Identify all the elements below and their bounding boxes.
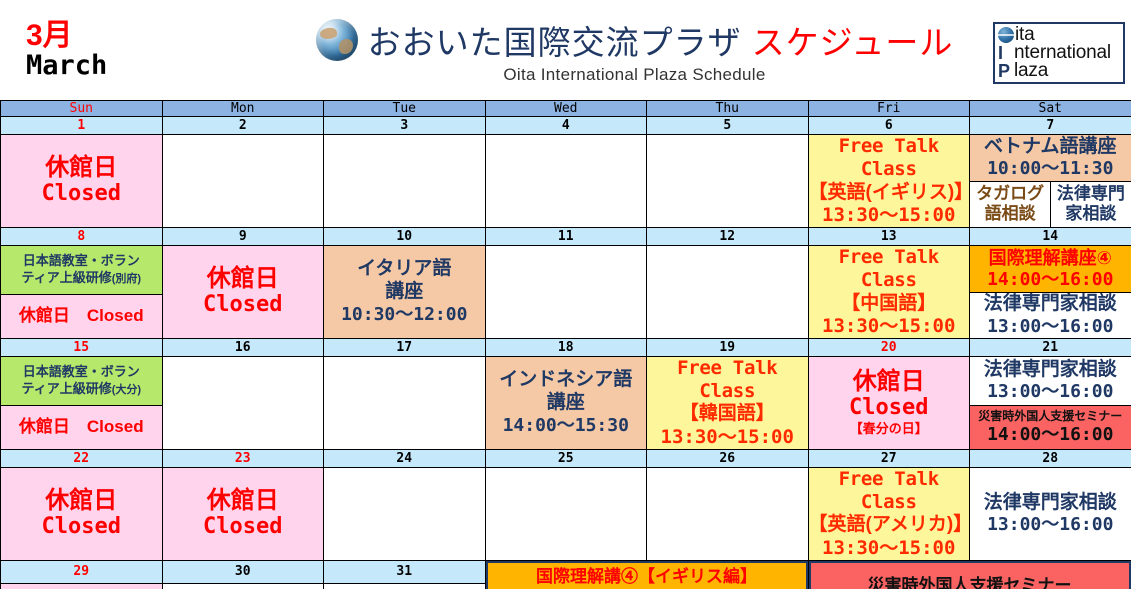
cell-day-22[interactable]: 休館日 Closed: [1, 467, 163, 560]
calendar-page: 3月 March おおいた国際交流プラザ スケジュール Oita Interna…: [0, 0, 1131, 589]
daynum-24: 24: [324, 449, 486, 467]
daynum-8: 8: [1, 227, 163, 245]
banner-cell-orange[interactable]: 国際理解講④【イギリス編】 令和8年3月14日（土） 14:00〜16:00 i…: [485, 560, 808, 589]
daynum-row-week1: 1 2 3 4 5 6 7: [1, 117, 1131, 135]
daynum-12: 12: [647, 227, 809, 245]
daynum-11: 11: [485, 227, 647, 245]
banner-red-title: 災害時外国人支援セミナー: [817, 575, 1123, 589]
weekday-thu: Thu: [647, 101, 809, 117]
kokusai-course-title: 国際理解講座④: [989, 248, 1112, 269]
daynum-28: 28: [970, 449, 1131, 467]
cell-day-23[interactable]: 休館日 Closed: [162, 467, 324, 560]
closed-en: Closed: [42, 182, 121, 207]
daynum-5: 5: [647, 117, 809, 135]
cell-day-17[interactable]: [324, 356, 486, 449]
holiday-label: 【春分の日】: [850, 421, 928, 437]
event-row-week2: 日本語教室・ボラン ティア上級研修(別府) 休館日 Closed 休館日: [1, 245, 1131, 338]
vietnamese-course-title: ベトナム語講座: [984, 136, 1116, 159]
daynum-15: 15: [1, 338, 163, 356]
cell-day-28[interactable]: 法律専門家相談 13:00〜16:00: [970, 467, 1131, 560]
event-row-week3: 日本語教室・ボラン ティア上級研修(大分) 休館日 Closed: [1, 356, 1131, 449]
daynum-row-week4: 22 23 24 25 26 27 28: [1, 449, 1131, 467]
weekday-fri: Fri: [808, 101, 970, 117]
daynum-7: 7: [970, 117, 1131, 135]
daynum-13: 13: [808, 227, 970, 245]
closed-ja: 休館日: [45, 488, 117, 515]
legal-consult[interactable]: 法律専門 家相談: [1050, 182, 1130, 227]
weekday-sun: Sun: [1, 101, 163, 117]
daynum-16: 16: [162, 338, 324, 356]
daynum-row-week2: 8 9 10 11 12 13 14: [1, 227, 1131, 245]
legal-consult-title: 法律専門家相談: [984, 359, 1117, 382]
daynum-17: 17: [324, 338, 486, 356]
volunteer-line1: 日本語教室・ボラン: [23, 364, 140, 380]
event-row-week1: 休館日 Closed Free Talk Class 【英語(イギリス)】 13…: [1, 135, 1131, 228]
kokusai-course-time: 14:00〜16:00: [987, 269, 1113, 291]
daynum-row-week3: 15 16 17 18 19 20 21: [1, 338, 1131, 356]
indonesian-course-line2: 講座: [547, 392, 585, 415]
daynum-14: 14: [970, 227, 1131, 245]
banner-cell-red[interactable]: 災害時外国人支援セミナー 令和8年3月21日(土) 14:00〜16:00 大分…: [808, 560, 1131, 589]
cell-day-26[interactable]: [647, 467, 809, 560]
oita-international-plaza-logo: ita I nternational P laza: [993, 22, 1125, 84]
closed-ja: 休館日: [45, 155, 117, 182]
tagalog-consult[interactable]: タガログ 語相談: [970, 182, 1050, 227]
logo-globe-icon: [998, 27, 1014, 43]
closed-ja: 休館日: [207, 488, 279, 515]
closed-ja: 休館日: [853, 369, 925, 396]
closed-inline: 休館日 Closed: [19, 306, 144, 326]
event-row-week4: 休館日 Closed 休館日 Closed Free Talk Class: [1, 467, 1131, 560]
cell-day-18[interactable]: インドネシア語 講座 14:00〜15:30: [485, 356, 647, 449]
daynum-22: 22: [1, 449, 163, 467]
italian-course-line2: 講座: [385, 281, 423, 304]
legal-line2: 家相談: [1065, 204, 1116, 224]
freetalk-time: 13:30〜15:00: [822, 315, 955, 338]
cell-day-2[interactable]: [162, 135, 324, 228]
logo-cap-i: I: [998, 45, 1014, 62]
daynum-27: 27: [808, 449, 970, 467]
daynum-25: 25: [485, 449, 647, 467]
freetalk-time: 13:30〜15:00: [822, 537, 955, 560]
cell-day-29[interactable]: 休館日 Closed: [1, 583, 163, 589]
cell-day-30[interactable]: [162, 583, 324, 589]
cell-day-21[interactable]: 法律専門家相談 13:00〜16:00 災害時外国人支援セミナー 14:00〜1…: [970, 356, 1131, 449]
closed-en: Closed: [849, 396, 928, 421]
weekday-mon: Mon: [162, 101, 324, 117]
daynum-4: 4: [485, 117, 647, 135]
cell-day-15[interactable]: 日本語教室・ボラン ティア上級研修(大分) 休館日 Closed: [1, 356, 163, 449]
daynum-29: 29: [1, 560, 163, 583]
closed-inline: 休館日 Closed: [19, 417, 144, 437]
logo-cap-p: P: [998, 63, 1014, 80]
freetalk-language: 【韓国語】: [680, 402, 775, 425]
cell-day-19[interactable]: Free Talk Class 【韓国語】 13:30〜15:00: [647, 356, 809, 449]
cell-day-5[interactable]: [647, 135, 809, 228]
banner-orange-title: 国際理解講④【イギリス編】: [494, 566, 800, 588]
page-title-ja: おおいた国際交流プラザ: [368, 16, 742, 64]
weekday-wed: Wed: [485, 101, 647, 117]
legal-consult-title: 法律専門家相談: [984, 293, 1117, 316]
cell-day-10[interactable]: イタリア語 講座 10:30〜12:00: [324, 245, 486, 338]
calendar-table: Sun Mon Tue Wed Thu Fri Sat 1 2 3 4 5 6 …: [0, 100, 1131, 589]
daynum-10: 10: [324, 227, 486, 245]
italian-course-time: 10:30〜12:00: [341, 304, 467, 326]
weekday-header-row: Sun Mon Tue Wed Thu Fri Sat: [1, 101, 1131, 117]
closed-en: Closed: [42, 515, 121, 540]
closed-en: Closed: [203, 515, 282, 540]
indonesian-course-line1: インドネシア語: [499, 369, 632, 392]
tagalog-line2: 語相談: [985, 204, 1036, 224]
daynum-18: 18: [485, 338, 647, 356]
cell-day-31[interactable]: [324, 583, 486, 589]
cell-day-11[interactable]: [485, 245, 647, 338]
daynum-23: 23: [162, 449, 324, 467]
legal-consult-time: 13:00〜16:00: [987, 381, 1113, 403]
vietnamese-course-time: 10:00〜11:30: [987, 158, 1113, 180]
cell-day-8[interactable]: 日本語教室・ボラン ティア上級研修(別府) 休館日 Closed: [1, 245, 163, 338]
title-block: おおいた国際交流プラザ スケジュール Oita International Pl…: [178, 16, 1131, 85]
daynum-row-week5: 29 30 31 国際理解講④【イギリス編】 令和8年3月14日（土） 14:0…: [1, 560, 1131, 583]
closed-ja: 休館日: [207, 266, 279, 293]
cell-day-20[interactable]: 休館日 Closed 【春分の日】: [808, 356, 970, 449]
daynum-20: 20: [808, 338, 970, 356]
legal-consult-title: 法律専門家相談: [984, 492, 1117, 515]
weekday-tue: Tue: [324, 101, 486, 117]
daynum-30: 30: [162, 560, 324, 583]
daynum-6: 6: [808, 117, 970, 135]
kokusai-rikai-banner[interactable]: 国際理解講④【イギリス編】 令和8年3月14日（土） 14:00〜16:00 i…: [486, 561, 808, 589]
freetalk-language: 【英語(アメリカ)】: [809, 513, 970, 536]
cell-day-7[interactable]: ベトナム語講座 10:00〜11:30 タガログ 語相談 法律専門: [970, 135, 1131, 228]
cell-day-6[interactable]: Free Talk Class 【英語(イギリス)】 13:30〜15:00: [808, 135, 970, 228]
italian-course-line1: イタリア語: [357, 258, 451, 281]
daynum-19: 19: [647, 338, 809, 356]
cell-day-3[interactable]: [324, 135, 486, 228]
month-label-ja: 3月: [26, 20, 178, 52]
freetalk-title: Free Talk Class: [809, 468, 970, 514]
cell-day-25[interactable]: [485, 467, 647, 560]
cell-day-14[interactable]: 国際理解講座④ 14:00〜16:00 法律専門家相談 13:00〜16:00: [970, 245, 1131, 338]
saigai-seminar-banner[interactable]: 災害時外国人支援セミナー 令和8年3月21日(土) 14:00〜16:00 大分…: [809, 561, 1131, 589]
daynum-21: 21: [970, 338, 1131, 356]
cell-day-27[interactable]: Free Talk Class 【英語(アメリカ)】 13:30〜15:00: [808, 467, 970, 560]
cell-day-12[interactable]: [647, 245, 809, 338]
volunteer-line1: 日本語教室・ボラン: [23, 253, 140, 269]
logo-line-3: laza: [1014, 62, 1048, 80]
freetalk-title: Free Talk Class: [809, 246, 970, 292]
daynum-9: 9: [162, 227, 324, 245]
legal-consult-time: 13:00〜16:00: [987, 316, 1113, 338]
page-title-en: Oita International Plaza Schedule: [178, 65, 1091, 85]
volunteer-line2: ティア上級研修(別府): [21, 270, 141, 287]
cell-day-13[interactable]: Free Talk Class 【中国語】 13:30〜15:00: [808, 245, 970, 338]
cell-day-4[interactable]: [485, 135, 647, 228]
legal-line1: 法律専門: [1057, 184, 1125, 204]
month-block: 3月 March: [0, 20, 178, 80]
cell-day-16[interactable]: [162, 356, 324, 449]
freetalk-time: 13:30〜15:00: [822, 204, 955, 227]
daynum-2: 2: [162, 117, 324, 135]
weekday-sat: Sat: [970, 101, 1131, 117]
page-header: 3月 March おおいた国際交流プラザ スケジュール Oita Interna…: [0, 0, 1131, 100]
daynum-1: 1: [1, 117, 163, 135]
globe-icon: [316, 19, 358, 61]
month-label-en: March: [26, 52, 178, 80]
freetalk-language: 【英語(イギリス)】: [809, 181, 970, 204]
freetalk-time: 13:30〜15:00: [661, 426, 794, 449]
indonesian-course-time: 14:00〜15:30: [503, 415, 629, 437]
closed-en: Closed: [203, 293, 282, 318]
freetalk-language: 【中国語】: [841, 292, 936, 315]
cell-day-1[interactable]: 休館日 Closed: [1, 135, 163, 228]
cell-day-24[interactable]: [324, 467, 486, 560]
cell-day-9[interactable]: 休館日 Closed: [162, 245, 324, 338]
legal-consult-time: 13:00〜16:00: [987, 514, 1113, 536]
saigai-seminar-time: 14:00〜16:00: [987, 424, 1113, 446]
page-title-schedule: スケジュール: [752, 16, 954, 64]
volunteer-line2: ティア上級研修(大分): [21, 381, 141, 398]
saigai-seminar-title: 災害時外国人支援セミナー: [978, 409, 1122, 423]
daynum-31: 31: [324, 560, 486, 583]
tagalog-line1: タガログ: [976, 184, 1044, 204]
daynum-26: 26: [647, 449, 809, 467]
daynum-3: 3: [324, 117, 486, 135]
freetalk-title: Free Talk Class: [647, 357, 808, 403]
freetalk-title: Free Talk Class: [809, 135, 970, 181]
